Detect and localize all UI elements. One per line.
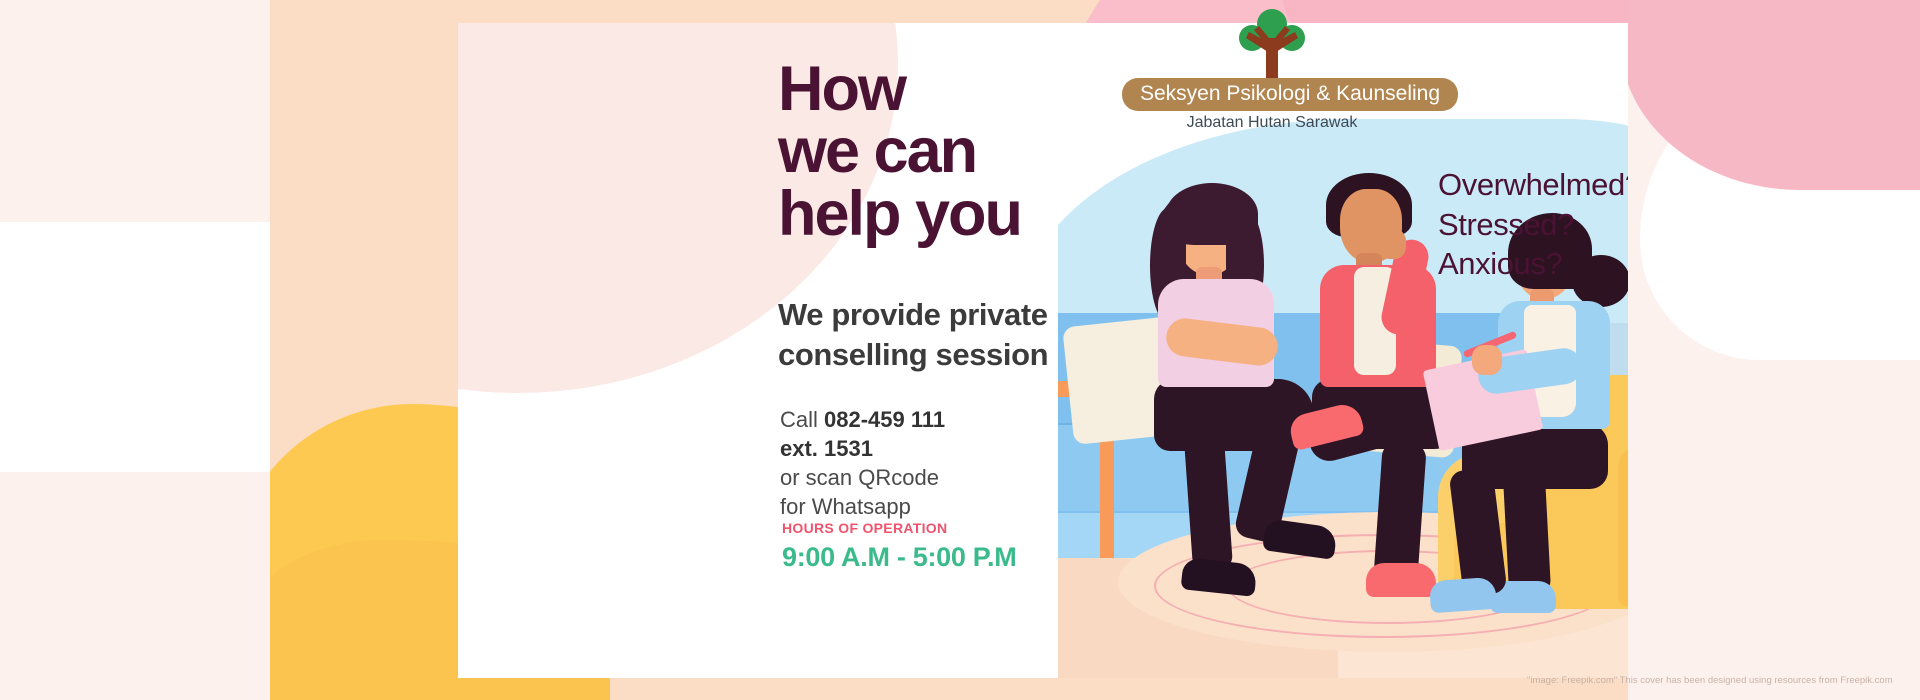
logo-subtitle: Jabatan Hutan Sarawak	[1122, 114, 1422, 132]
question-2: Stressed?	[1438, 205, 1628, 245]
qr-hint-line-2: for Whatsapp	[780, 492, 1110, 521]
image-credit: "image: Freepik.com" This cover has been…	[1527, 675, 1893, 686]
phone-extension: ext. 1531	[780, 436, 873, 461]
question-1: Overwhelmed?	[1438, 165, 1628, 205]
question-list: Overwhelmed? Stressed? Anxious?	[1438, 165, 1628, 284]
hours-label: HOURS OF OPERATION	[782, 520, 1016, 536]
question-3: Anxious?	[1438, 244, 1628, 284]
call-line: Call 082-459 111	[780, 405, 1110, 434]
organisation-logo: Seksyen Psikologi & Kaunseling Jabatan H…	[1122, 8, 1422, 132]
logo-name-pill: Seksyen Psikologi & Kaunseling	[1122, 78, 1458, 111]
counselor-hand	[1472, 345, 1502, 375]
headline-line-3: help you	[778, 183, 1198, 245]
subheading-line-2: conselling session	[778, 335, 1138, 375]
tree-logo-icon	[1235, 8, 1309, 80]
qr-hint-line-1: or scan QRcode	[780, 463, 1110, 492]
counselor-shin-back	[1503, 472, 1551, 596]
contact-info: Call 082-459 111 ext. 1531 or scan QRcod…	[780, 405, 1110, 521]
client-man-hand	[1378, 229, 1406, 259]
counselor-shoe-front	[1429, 577, 1497, 614]
phone-number: 082-459 111	[824, 407, 945, 432]
armchair-arm-right	[1618, 447, 1628, 607]
subheading: We provide private conselling session	[778, 295, 1138, 374]
client-man-shoe-lower	[1366, 563, 1436, 597]
extension-line: ext. 1531	[780, 434, 1110, 463]
hours-of-operation: HOURS OF OPERATION 9:00 A.M - 5:00 P.M	[782, 520, 1016, 573]
subheading-line-1: We provide private	[778, 295, 1138, 335]
call-prefix: Call	[780, 407, 824, 432]
poster-card: How we can help you We provide private c…	[270, 0, 1628, 700]
hours-value: 9:00 A.M - 5:00 P.M	[782, 542, 1016, 573]
